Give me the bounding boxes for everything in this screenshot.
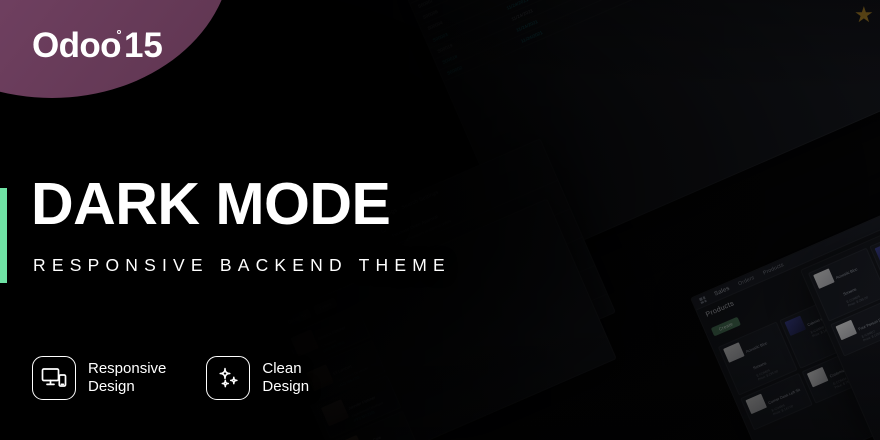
avatar	[291, 329, 319, 356]
feature-responsive-line2: Design	[88, 378, 135, 395]
cell-customer: Ready Mat	[620, 0, 793, 3]
page-subtitle: RESPONSIVE BACKEND THEME	[33, 255, 451, 276]
quotations-table: Number Creation Date Customer Salesperso…	[406, 0, 880, 82]
page-title: DARK MODE	[31, 176, 390, 233]
feature-responsive-line1: Responsive	[88, 360, 166, 377]
avatar	[306, 365, 334, 392]
brand-logo: Odoo 15	[32, 28, 163, 63]
feature-responsive-label: Responsive Design	[88, 360, 166, 397]
star-rating-icon: ★	[854, 4, 880, 26]
product-thumbnail	[723, 342, 745, 363]
product-thumbnail	[785, 316, 807, 337]
responsive-devices-icon	[32, 356, 76, 400]
product-name: Acoustic Bloc Screens	[835, 267, 858, 296]
feature-clean-line1: Clean	[262, 360, 301, 377]
apps-grid-icon-2	[699, 296, 707, 304]
brand-name: Odoo	[32, 28, 121, 63]
brand-version-number: 15	[124, 26, 163, 65]
feature-clean-line2: Design	[262, 378, 309, 395]
promo-banner: Sales Orders To Invoice Products Reporti…	[0, 0, 880, 440]
product-thumbnail	[835, 320, 857, 341]
product-thumbnail	[813, 268, 835, 289]
product-thumbnail	[745, 394, 767, 415]
accent-bar	[0, 188, 7, 283]
degree-tick-icon	[117, 30, 121, 34]
sparkles-icon	[206, 356, 250, 400]
feature-responsive-design: Responsive Design	[32, 356, 166, 400]
avatar	[321, 400, 349, 427]
product-thumbnail	[807, 367, 829, 388]
product-name: Acoustic Bloc Screens	[745, 341, 768, 370]
feature-clean-label: Clean Design	[262, 360, 309, 397]
brand-version: 15	[124, 28, 163, 63]
feature-clean-design: Clean Design	[206, 356, 309, 400]
person-name: Chris Cole	[363, 434, 382, 440]
product-thumbnail	[875, 242, 880, 263]
feature-badges: Responsive Design Clean Design	[32, 356, 309, 400]
